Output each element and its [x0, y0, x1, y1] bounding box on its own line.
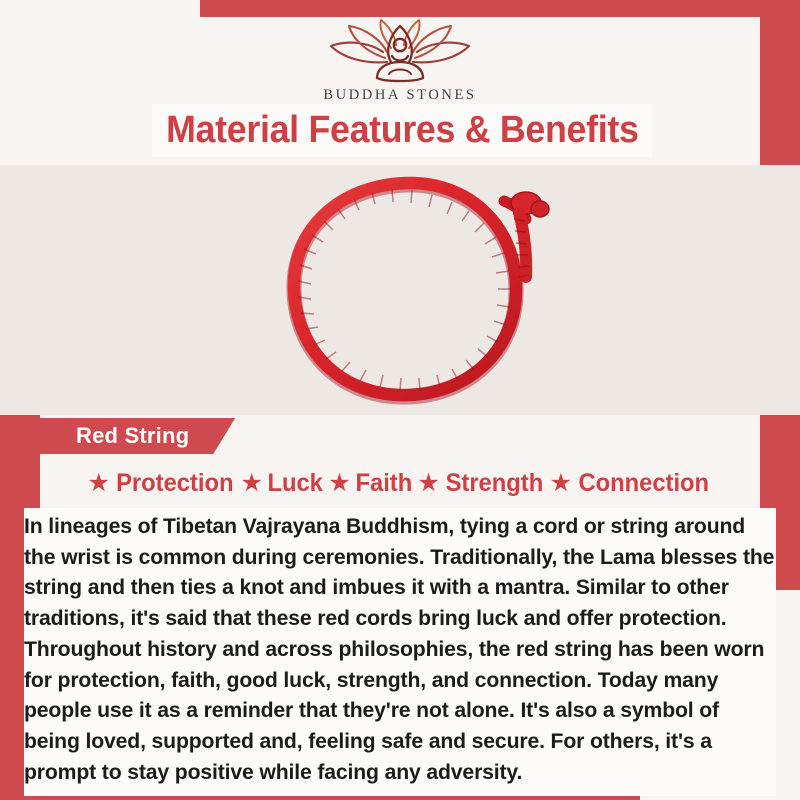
benefits-row: ★ Protection ★ Luck ★ Faith ★ Strength ★…	[26, 466, 774, 500]
red-braided-string-bracelet-icon	[236, 165, 576, 415]
benefit-label-luck: Luck	[267, 469, 322, 498]
brand-name: BUDDHA STONES	[323, 87, 476, 104]
star-icon: ★	[550, 471, 572, 496]
page-title: Material Features & Benefits	[166, 109, 638, 152]
star-icon: ★	[417, 471, 439, 496]
benefit-item-luck: ★ Luck	[241, 469, 325, 498]
star-icon: ★	[241, 471, 263, 496]
benefit-item-faith: ★ Faith	[328, 469, 413, 498]
product-name-banner: Red String	[28, 418, 235, 454]
benefit-item-connection: ★ Connection	[550, 469, 713, 498]
frame-border-top	[200, 0, 800, 17]
star-icon: ★	[87, 471, 109, 496]
description-text: In lineages of Tibetan Vajrayana Buddhis…	[24, 508, 776, 796]
benefit-label-protection: Protection	[116, 469, 233, 498]
benefit-label-strength: Strength	[445, 469, 543, 498]
lotus-meditation-icon	[325, 18, 475, 86]
product-name-label: Red String	[76, 423, 189, 449]
benefit-label-faith: Faith	[355, 469, 412, 498]
star-icon: ★	[328, 471, 350, 496]
benefit-label-connection: Connection	[578, 469, 709, 498]
title-band: Material Features & Benefits	[152, 104, 652, 157]
benefit-item-strength: ★ Strength	[417, 469, 545, 498]
product-image-area	[0, 165, 800, 415]
material-features-infographic: BUDDHA STONES Material Features & Benefi…	[0, 0, 800, 800]
benefit-item-protection: ★ Protection	[87, 469, 236, 498]
